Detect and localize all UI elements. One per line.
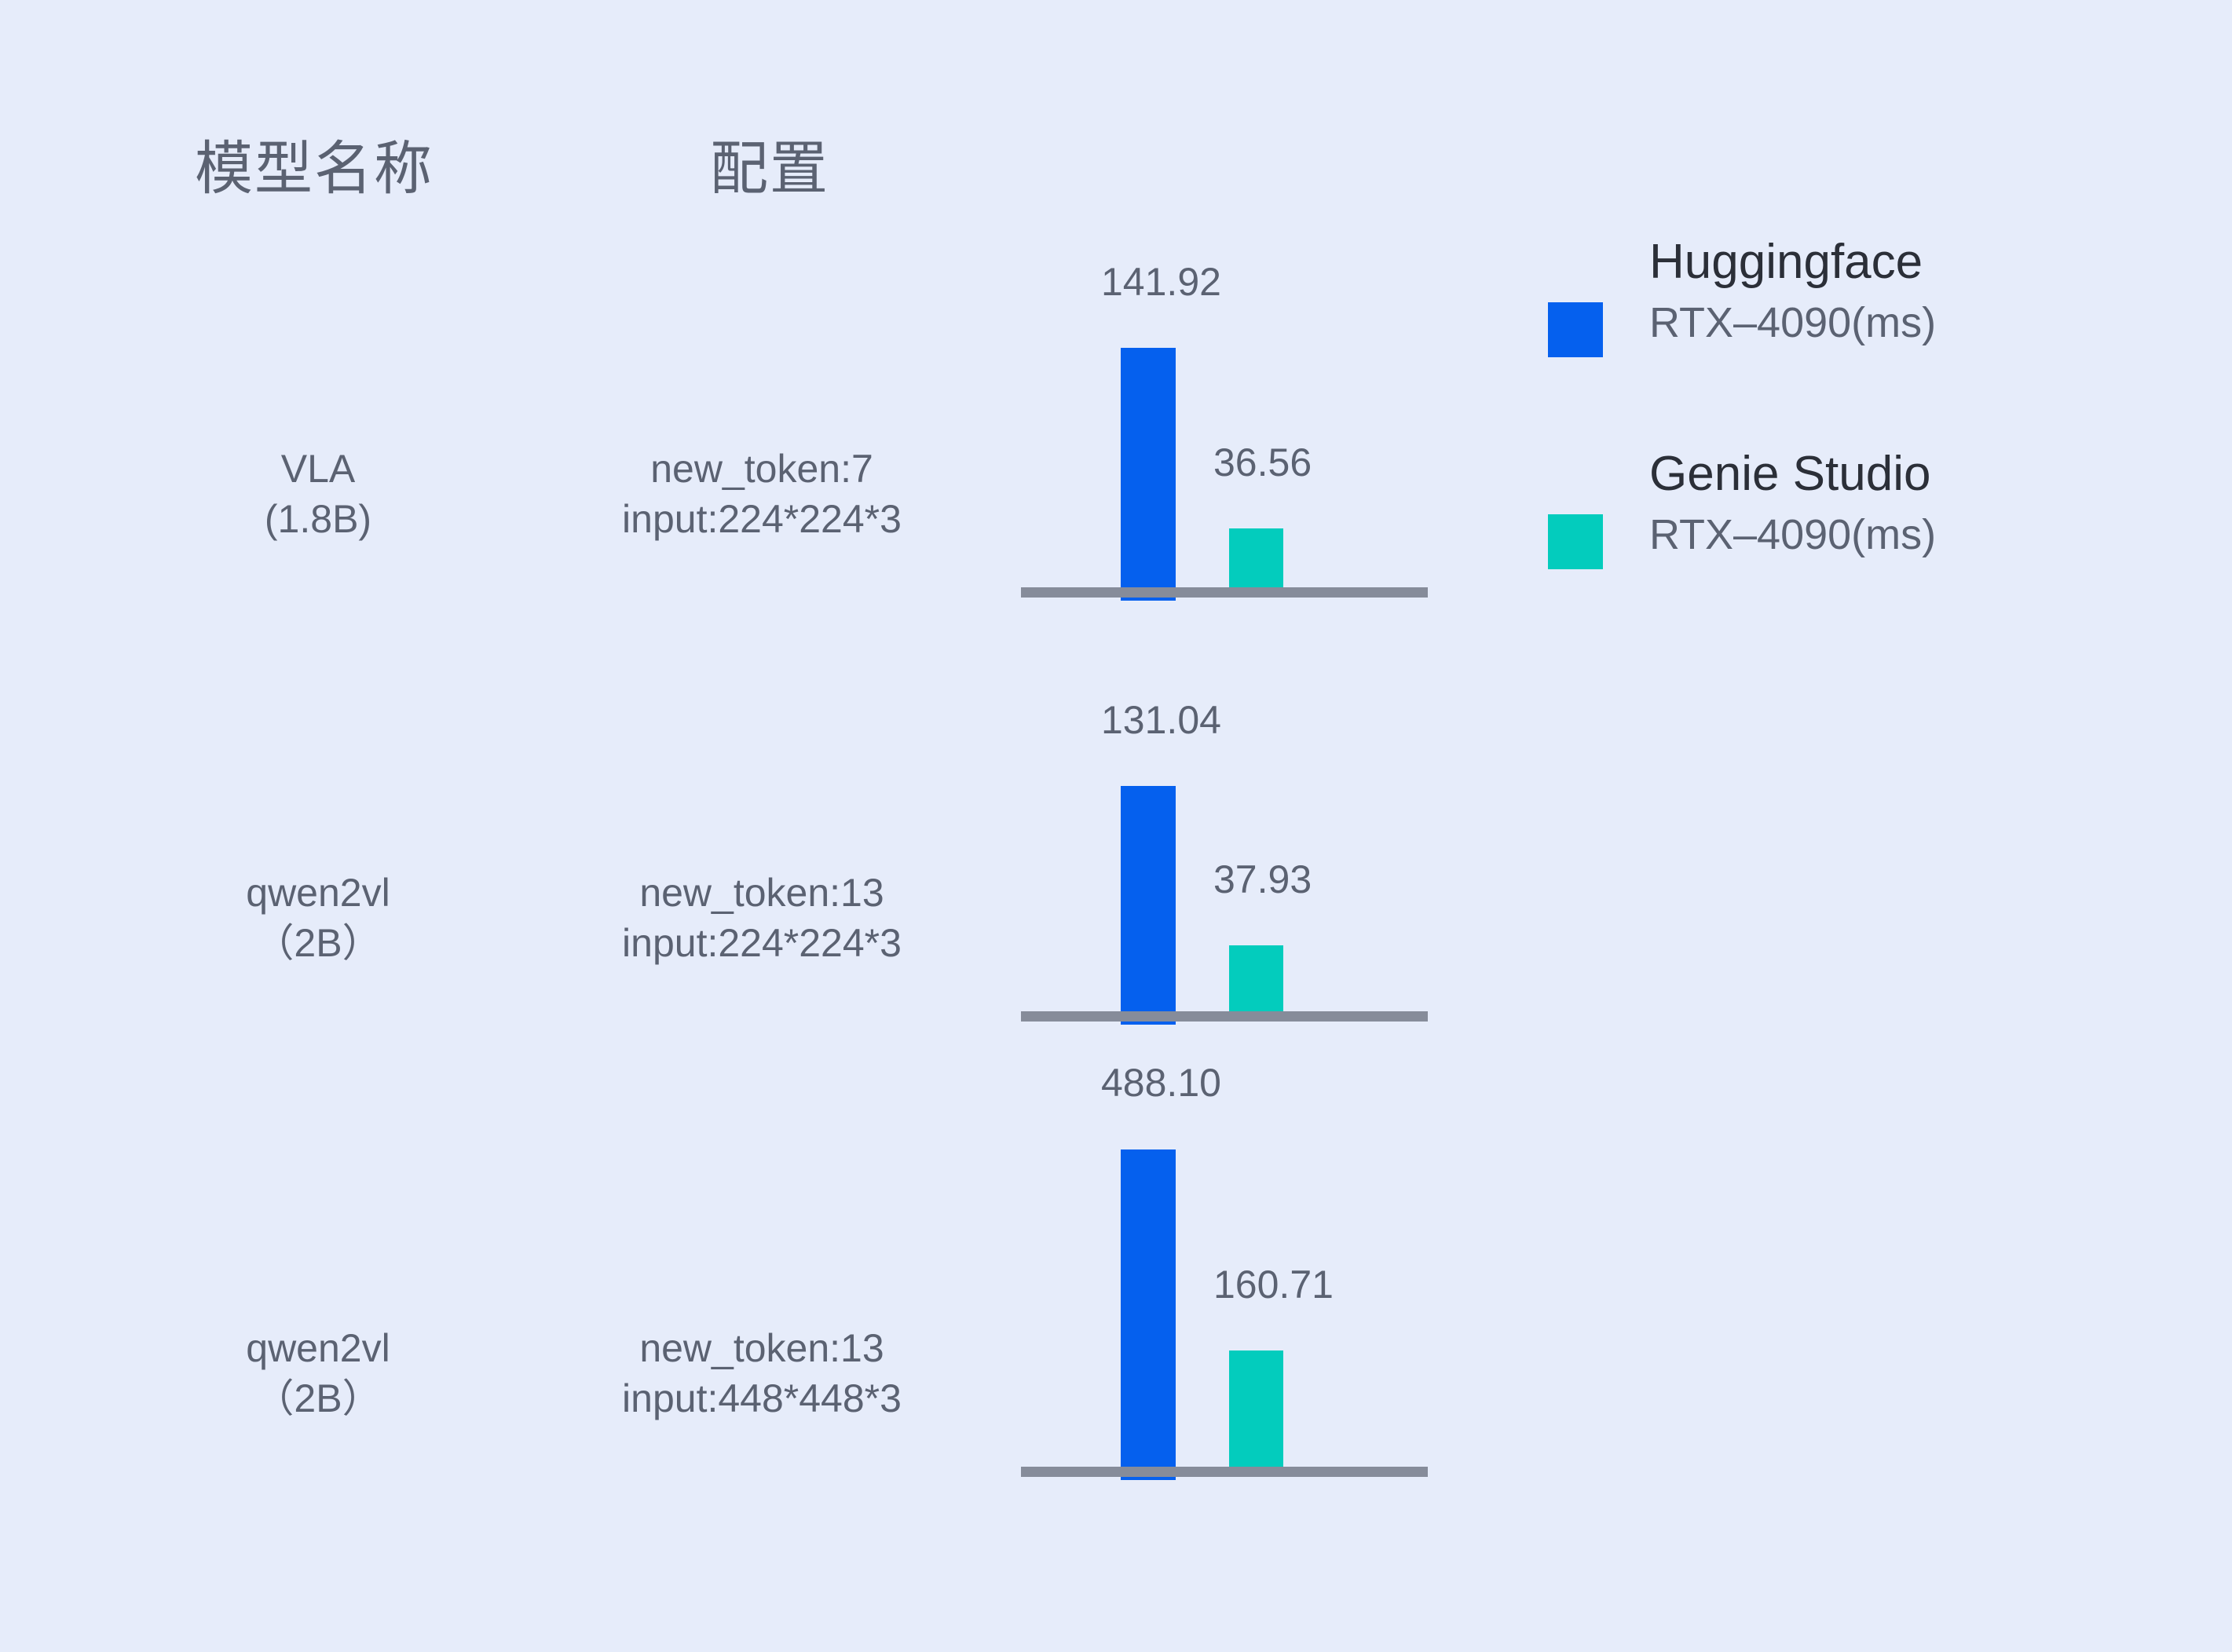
column-header-config: 配置 [550,122,990,206]
axis-baseline [1021,587,1428,598]
legend-label-group: Huggingface RTX–4090(ms) [1649,236,2168,350]
model-name-line1: qwen2vl [246,1326,390,1370]
column-header-model-name: 模型名称 [94,122,534,206]
bar-huggingface [1121,348,1176,601]
bar-huggingface [1121,1149,1176,1480]
config-line2: input:448*448*3 [503,1373,1021,1424]
config-line2: input:224*224*3 [503,494,1021,544]
cell-model-name: qwen2vl （2B） [126,868,510,968]
model-name-line2: (1.8B) [126,494,510,544]
config-line2: input:224*224*3 [503,918,1021,968]
bar-huggingface [1121,786,1176,1025]
bar-value-label-huggingface: 131.04 [1101,697,1221,743]
bar-chart-row: 141.92 36.56 [1021,236,1429,612]
chart-canvas: 模型名称 配置 VLA (1.8B) new_token:7 input:224… [0,0,2232,1652]
bar-chart-row: 131.04 37.93 [1021,660,1429,1036]
bar-value-label-genie-studio: 36.56 [1213,440,1312,485]
legend-swatch-teal-icon [1548,514,1603,569]
cell-model-name: VLA (1.8B) [126,444,510,544]
legend-series-sub: RTX–4090(ms) [1649,509,2168,562]
cell-config: new_token:7 input:224*224*3 [503,444,1021,544]
bar-value-label-genie-studio: 160.71 [1213,1262,1334,1307]
bar-genie-studio [1229,945,1283,1022]
config-line1: new_token:13 [639,1326,884,1370]
config-line1: new_token:13 [639,871,884,915]
model-name-line2: （2B） [126,1373,510,1424]
model-name-line1: VLA [281,447,356,491]
config-line1: new_token:7 [650,447,873,491]
axis-baseline [1021,1011,1428,1022]
axis-baseline [1021,1467,1428,1477]
table-row: qwen2vl （2B） new_token:13 input:448*448*… [0,1084,2232,1492]
legend-item-genie-studio[interactable]: Genie Studio RTX–4090(ms) [1543,448,2187,612]
legend-series-name: Genie Studio [1649,448,2168,501]
model-name-line2: （2B） [126,918,510,968]
cell-config: new_token:13 input:224*224*3 [503,868,1021,968]
table-row: qwen2vl （2B） new_token:13 input:224*224*… [0,660,2232,1036]
bar-genie-studio [1229,1350,1283,1477]
legend-series-sub: RTX–4090(ms) [1649,297,2168,350]
cell-config: new_token:13 input:448*448*3 [503,1323,1021,1424]
model-name-line1: qwen2vl [246,871,390,915]
legend-swatch-blue-icon [1548,302,1603,357]
bar-value-label-genie-studio: 37.93 [1213,857,1312,902]
legend-label-group: Genie Studio RTX–4090(ms) [1649,448,2168,562]
bar-chart-row: 488.10 160.71 [1021,1084,1429,1492]
cell-model-name: qwen2vl （2B） [126,1323,510,1424]
legend-series-name: Huggingface [1649,236,2168,289]
legend-item-huggingface[interactable]: Huggingface RTX–4090(ms) [1543,236,2187,400]
bar-value-label-huggingface: 141.92 [1101,259,1221,305]
bar-value-label-huggingface: 488.10 [1101,1060,1221,1106]
